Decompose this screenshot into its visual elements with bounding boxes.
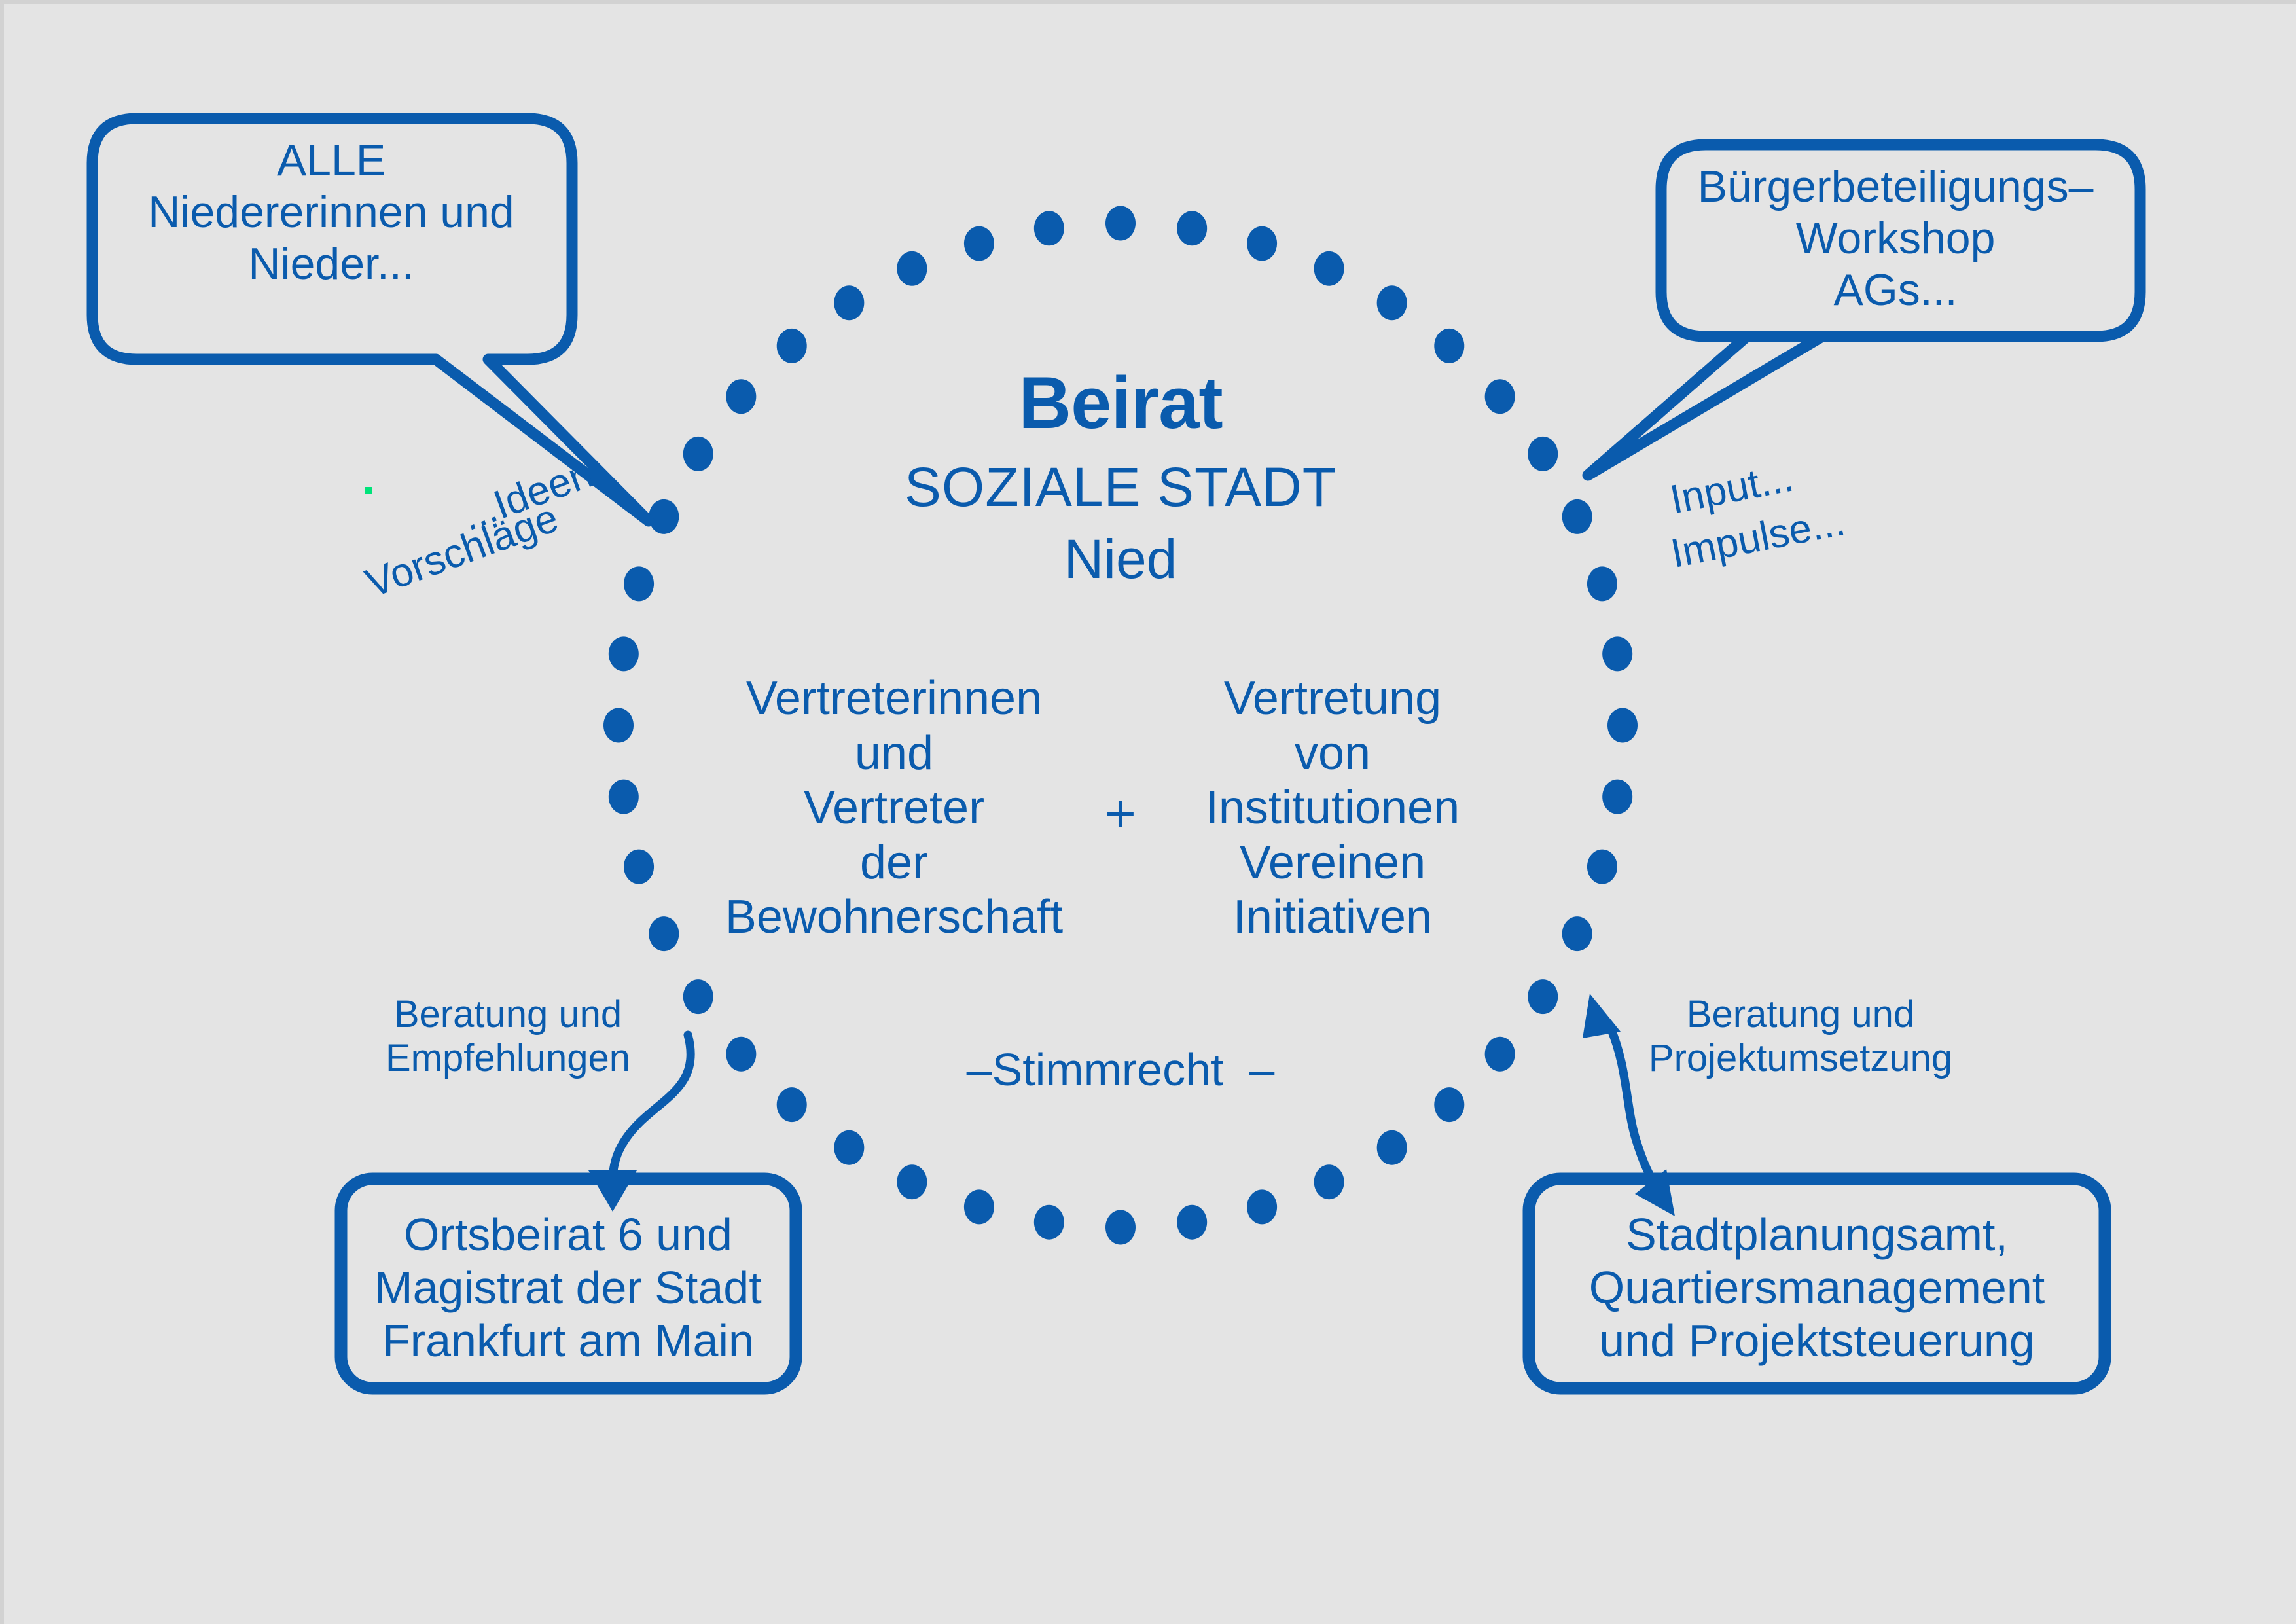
ring-dot	[726, 379, 756, 414]
ring-dot	[1602, 636, 1632, 671]
ring-dot	[964, 1189, 994, 1224]
green-speck-artifact	[365, 487, 372, 494]
ring-dot	[1314, 1164, 1344, 1199]
ring-dot	[1177, 211, 1207, 245]
ring-dot	[897, 1164, 927, 1199]
ring-dot	[1562, 499, 1592, 534]
ring-dot	[1177, 1205, 1207, 1240]
ring-dot	[649, 499, 679, 534]
ring-dot	[1105, 206, 1136, 241]
stimmrecht-note: –Stimmrecht –	[967, 1043, 1275, 1096]
center-column-right: Vertretung von Institutionen Vereinen In…	[1206, 672, 1460, 945]
ring-dot	[1034, 211, 1064, 245]
arrow-right-head-up	[1583, 994, 1621, 1038]
ring-dot	[609, 636, 639, 671]
ring-dot	[624, 850, 654, 884]
ring-dot	[834, 285, 864, 320]
ring-dot	[609, 780, 639, 814]
ring-dot	[1377, 1130, 1407, 1165]
center-subtitle-line2: Nied	[1064, 528, 1177, 591]
ring-dot	[1602, 780, 1632, 814]
ring-dot	[1587, 850, 1617, 884]
ring-dot	[1485, 1037, 1515, 1072]
ring-dot	[1377, 285, 1407, 320]
ring-dot	[624, 566, 654, 601]
ring-dot	[1105, 1210, 1136, 1245]
center-subtitle-line1: SOZIALE STADT	[905, 456, 1336, 519]
ring-dot	[603, 708, 634, 743]
ring-dot	[1607, 708, 1638, 743]
ring-dot	[1247, 226, 1277, 261]
ring-dot	[1528, 979, 1558, 1014]
arrow-right-label: Beratung und Projektumsetzung	[1649, 992, 1952, 1081]
box-left-label: Ortsbeirat 6 und Magistrat der Stadt Fra…	[374, 1208, 761, 1368]
ring-dot	[897, 251, 927, 286]
ring-dot	[1034, 1205, 1064, 1240]
center-title: Beirat	[1018, 361, 1222, 446]
ring-dot	[1434, 329, 1464, 363]
center-column-left: Vertreterinnen und Vertreter der Bewohne…	[725, 672, 1063, 945]
ring-dot	[777, 329, 807, 363]
ring-dot	[1314, 251, 1344, 286]
ring-dot	[683, 979, 713, 1014]
ring-dot	[1562, 916, 1592, 951]
box-right-label: Stadtplanungsamt, Quartiersmanagement un…	[1589, 1208, 2045, 1368]
ring-dot	[1587, 566, 1617, 601]
speech-bubble-left-label: ALLE Niedererinnen und Nieder...	[148, 135, 514, 290]
ring-dot	[1247, 1189, 1277, 1224]
diagram-canvas: Beirat SOZIALE STADT Nied Vertreterinnen…	[0, 0, 2296, 1624]
plus-sign: +	[1105, 783, 1136, 845]
ring-dot	[834, 1130, 864, 1165]
speech-bubble-right-label: Bürgerbeteiligungs– Workshop AGs...	[1698, 161, 2094, 316]
ring-dot	[1485, 379, 1515, 414]
ring-dot	[777, 1087, 807, 1122]
ring-dot	[649, 916, 679, 951]
ring-dot	[726, 1037, 756, 1072]
ring-dot	[683, 437, 713, 471]
arrow-left-label: Beratung und Empfehlungen	[386, 992, 630, 1081]
ring-dot	[1528, 437, 1558, 471]
ring-dot	[964, 226, 994, 261]
ring-dot	[1434, 1087, 1464, 1122]
